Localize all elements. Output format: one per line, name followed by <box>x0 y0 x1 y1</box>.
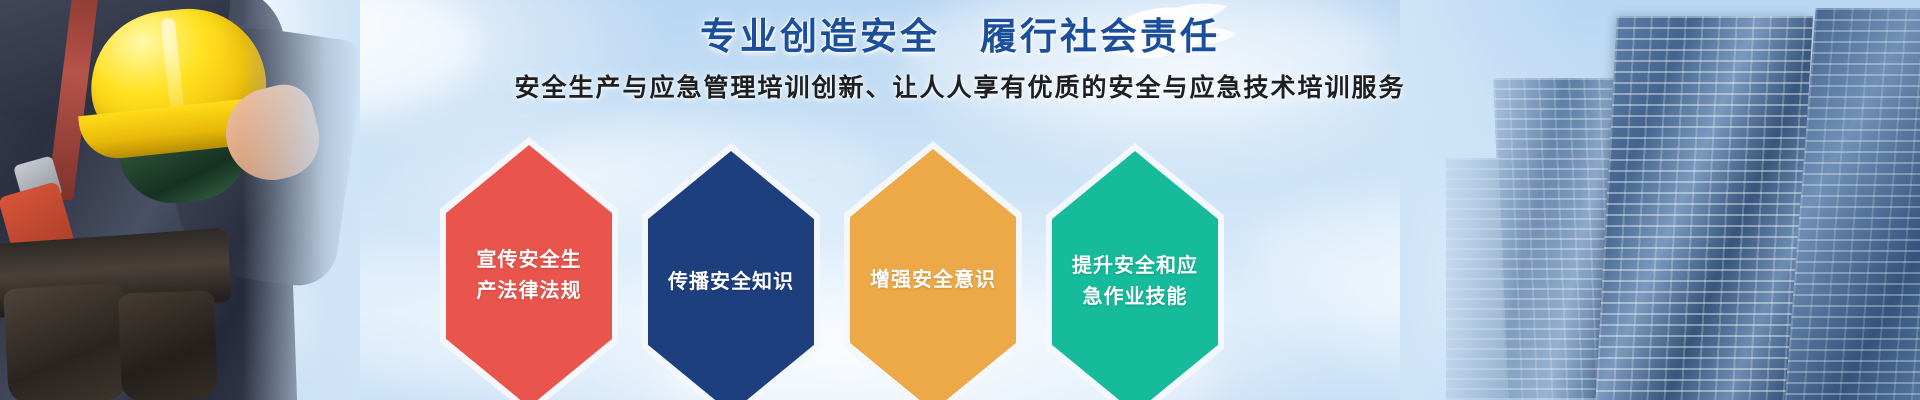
badge-awareness[interactable]: 增强安全意识 <box>844 137 1022 400</box>
skyscraper-group <box>1400 0 1920 400</box>
worker-fade-overlay <box>242 0 360 400</box>
badge-body: 宣传安全生 产法律法规 <box>446 145 612 400</box>
badge-label: 传播安全知识 <box>668 267 794 298</box>
worker-figure <box>0 0 360 400</box>
badge-law-promotion[interactable]: 宣传安全生 产法律法规 <box>440 137 618 400</box>
badge-border: 传播安全知识 <box>642 143 820 400</box>
badge-label: 提升安全和应 急作业技能 <box>1072 251 1198 313</box>
badge-skills[interactable]: 提升安全和应 急作业技能 <box>1046 137 1224 400</box>
badge-border: 增强安全意识 <box>844 141 1022 400</box>
badge-body: 传播安全知识 <box>648 151 814 400</box>
badge-border: 宣传安全生 产法律法规 <box>440 137 618 400</box>
page-subtitle: 安全生产与应急管理培训创新、让人人享有优质的安全与应急技术培训服务 <box>0 68 1920 104</box>
tool-pouch-secondary <box>118 290 218 400</box>
tool-pouch <box>3 283 129 400</box>
page-title: 专业创造安全 履行社会责任 <box>0 6 1920 60</box>
badge-body: 增强安全意识 <box>850 149 1016 400</box>
badge-knowledge-spread[interactable]: 传播安全知识 <box>642 137 820 400</box>
promo-banner: 专业创造安全 履行社会责任 安全生产与应急管理培训创新、让人人享有优质的安全与应… <box>0 0 1920 400</box>
badge-label: 增强安全意识 <box>870 265 996 296</box>
badge-border: 提升安全和应 急作业技能 <box>1046 143 1224 400</box>
badge-row: 宣传安全生 产法律法规 传播安全知识 增强安全意识 提升安全和应 急作业技能 <box>440 137 1200 400</box>
badge-body: 提升安全和应 急作业技能 <box>1052 151 1218 400</box>
badge-label: 宣传安全生 产法律法规 <box>477 245 582 307</box>
city-haze-overlay <box>1400 0 1580 400</box>
